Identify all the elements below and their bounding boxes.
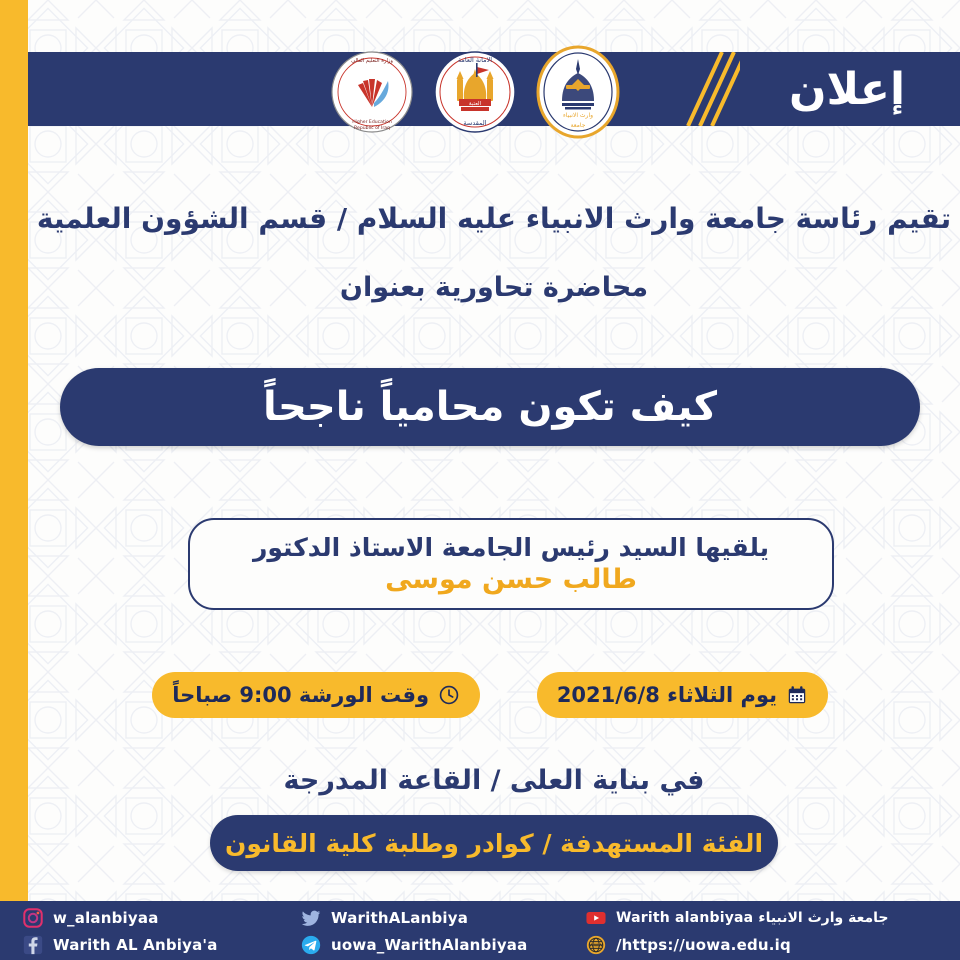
footer-bar: w_alanbiyaa Warith AL Anbiya'a WarithALa… [0, 901, 960, 960]
svg-text:جامعة: جامعة [571, 122, 586, 129]
speaker-name: طالب حسن موسى [385, 564, 637, 595]
svg-text:العتبة: العتبة [469, 101, 482, 107]
twitter-handle: WarithALanbiya [331, 909, 468, 927]
website-url: /https://uowa.edu.iq [616, 936, 791, 954]
globe-www-icon: www [585, 934, 607, 956]
svg-text:الامانة العامة: الامانة العامة [458, 56, 492, 64]
calendar-icon [786, 684, 808, 706]
website-link[interactable]: www /https://uowa.edu.iq [585, 932, 791, 958]
instagram-handle: w_alanbiyaa [53, 909, 159, 927]
svg-text:Higher Education: Higher Education [352, 119, 392, 125]
youtube-handle: Warith alanbiyaa جامعة وارث الانبياء [616, 910, 889, 926]
facebook-handle: Warith AL Anbiya'a [53, 936, 218, 954]
lecture-title-banner: كيف تكون محامياً ناجحاً [60, 368, 920, 446]
event-details-row: يوم الثلاثاء 2021/6/8 وقت الورشة 9:00 صب… [28, 672, 960, 720]
venue-text: في بناية العلى / القاعة المدرجة [28, 765, 960, 796]
time-badge: وقت الورشة 9:00 صباحاً [152, 672, 480, 718]
instagram-link[interactable]: w_alanbiyaa [22, 905, 159, 931]
university-warith-alanbiya-logo: وارث الانبياء جامعة [536, 45, 620, 139]
left-accent-bar [0, 0, 28, 901]
intro-line-2: محاضرة تحاورية بعنوان [28, 272, 960, 303]
facebook-link[interactable]: Warith AL Anbiya'a [22, 932, 218, 958]
announcement-poster: إعلان وارث الانبياء جامعة [0, 0, 960, 960]
twitter-link[interactable]: WarithALanbiya [300, 905, 468, 931]
twitter-icon [300, 907, 322, 929]
target-audience-banner: الفئة المستهدفة / كوادر وطلبة كلية القان… [210, 815, 778, 871]
date-badge-text: يوم الثلاثاء 2021/6/8 [557, 683, 777, 707]
svg-text:www: www [589, 942, 603, 948]
instagram-icon [22, 907, 44, 929]
date-badge: يوم الثلاثاء 2021/6/8 [537, 672, 828, 718]
logo-group: وارث الانبياء جامعة الامانة العامة [330, 44, 620, 140]
facebook-icon [22, 934, 44, 956]
telegram-handle: uowa_WarithAlanbiyaa [331, 936, 527, 954]
youtube-link[interactable]: Warith alanbiyaa جامعة وارث الانبياء [585, 905, 889, 931]
target-audience-text: الفئة المستهدفة / كوادر وطلبة كلية القان… [225, 829, 763, 858]
telegram-icon [300, 934, 322, 956]
svg-text:وزارة التعليم العالي: وزارة التعليم العالي [351, 58, 393, 64]
telegram-link[interactable]: uowa_WarithAlanbiyaa [300, 932, 527, 958]
svg-text:Republic of Iraq: Republic of Iraq [354, 125, 390, 131]
svg-text:المقدسة: المقدسة [463, 119, 486, 127]
poster-body: تقيم رئاسة جامعة وارث الانبياء عليه السل… [28, 150, 960, 900]
svg-text:وارث الانبياء: وارث الانبياء [563, 112, 593, 119]
speaker-box: يلقيها السيد رئيس الجامعة الاستاذ الدكتو… [188, 518, 834, 610]
page-title: إعلان [752, 50, 942, 128]
time-badge-text: وقت الورشة 9:00 صباحاً [172, 683, 429, 707]
al-abbas-holy-shrine-logo: الامانة العامة العتبة المقدسة [433, 45, 517, 139]
youtube-icon [585, 907, 607, 929]
ministry-higher-education-iraq-logo: وزارة التعليم العالي Higher Education Re… [330, 45, 414, 139]
intro-line-1: تقيم رئاسة جامعة وارث الانبياء عليه السل… [28, 202, 960, 235]
lecture-title-text: كيف تكون محامياً ناجحاً [263, 384, 717, 430]
speaker-role: يلقيها السيد رئيس الجامعة الاستاذ الدكتو… [253, 533, 769, 562]
clock-icon [438, 684, 460, 706]
